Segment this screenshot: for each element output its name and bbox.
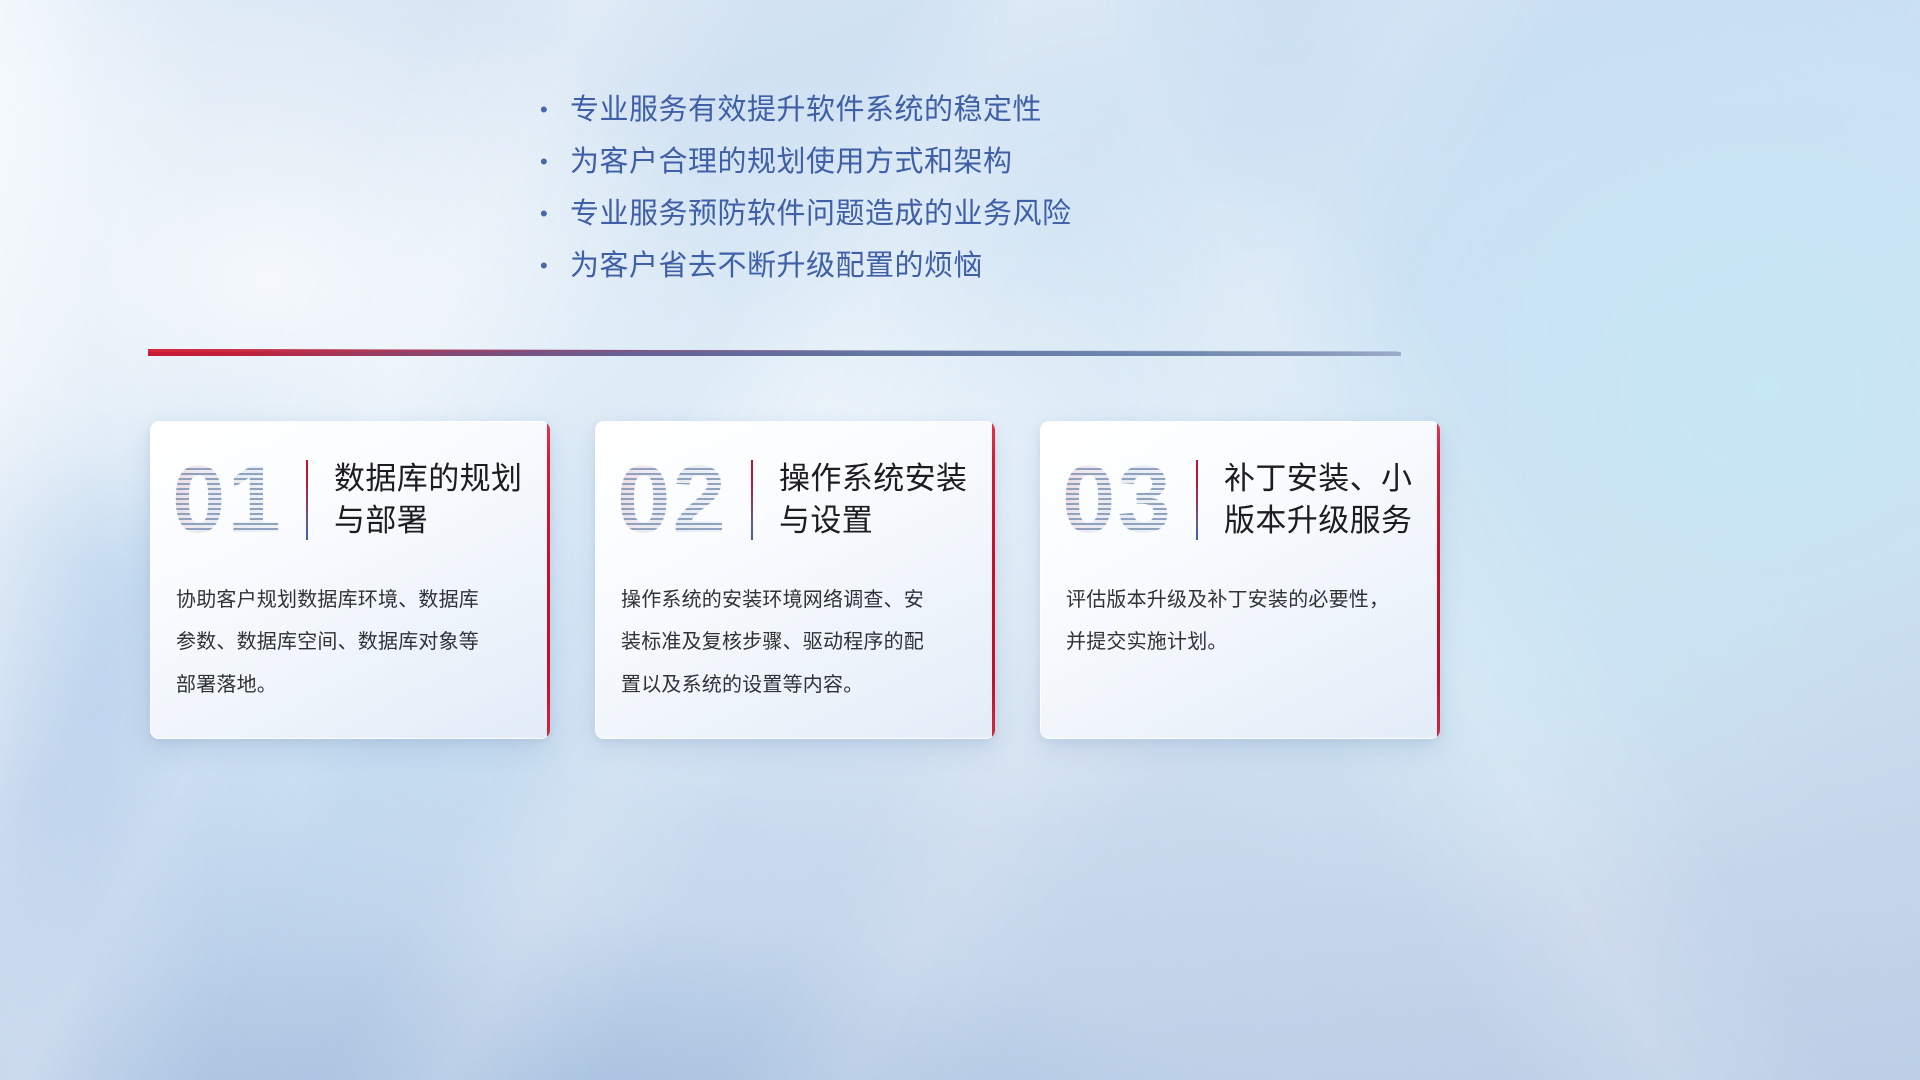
card-title: 数据库的规划 与部署: [334, 458, 522, 542]
service-card-list: 01 01 数据库的规划 与部署 协助客户规划数据库环境、数据库 参数、数据库空…: [150, 421, 1570, 741]
bullet-text: 为客户省去不断升级配置的烦恼: [570, 242, 983, 284]
section-divider: [148, 349, 1401, 359]
service-card[interactable]: 01 01 数据库的规划 与部署 协助客户规划数据库环境、数据库 参数、数据库空…: [150, 421, 550, 739]
service-card[interactable]: 03 03 补丁安装、小 版本升级服务 评估版本升级及补丁安装的必要性， 并提交…: [1040, 421, 1440, 739]
bullet-marker-icon: •: [540, 99, 570, 121]
card-number: 03: [1062, 448, 1192, 552]
divider-bar-highlight: [148, 349, 1401, 352]
card-number: 01: [172, 448, 302, 552]
slide-canvas: • 专业服务有效提升软件系统的稳定性 • 为客户合理的规划使用方式和架构 • 专…: [0, 0, 1920, 1080]
card-body-text: 操作系统的安装环境网络调查、安 装标准及复核步骤、驱动程序的配 置以及系统的设置…: [595, 579, 995, 706]
bullet-item-4: • 为客户省去不断升级配置的烦恼: [540, 242, 1520, 294]
bullet-marker-icon: •: [540, 255, 570, 277]
card-title-rule: [751, 460, 753, 540]
bullet-text: 为客户合理的规划使用方式和架构: [570, 138, 1013, 180]
service-card[interactable]: 02 02 操作系统安装 与设置 操作系统的安装环境网络调查、安 装标准及复核步…: [595, 421, 995, 739]
card-title: 操作系统安装 与设置: [779, 458, 967, 542]
card-title-rule: [1196, 460, 1198, 540]
card-number: 02: [617, 448, 747, 552]
card-header: 02 操作系统安装 与设置: [595, 421, 995, 579]
card-header: 01 数据库的规划 与部署: [150, 421, 550, 579]
card-title-rule: [306, 460, 308, 540]
bullet-item-3: • 专业服务预防软件问题造成的业务风险: [540, 190, 1520, 242]
bullet-text: 专业服务有效提升软件系统的稳定性: [570, 86, 1042, 128]
card-body-text: 评估版本升级及补丁安装的必要性， 并提交实施计划。: [1040, 579, 1440, 664]
bullet-item-1: • 专业服务有效提升软件系统的稳定性: [540, 86, 1520, 138]
card-title: 补丁安装、小 版本升级服务: [1224, 458, 1412, 542]
bullet-marker-icon: •: [540, 151, 570, 173]
card-body-text: 协助客户规划数据库环境、数据库 参数、数据库空间、数据库对象等 部署落地。: [150, 579, 550, 706]
bullet-item-2: • 为客户合理的规划使用方式和架构: [540, 138, 1520, 190]
benefits-bullet-list: • 专业服务有效提升软件系统的稳定性 • 为客户合理的规划使用方式和架构 • 专…: [540, 86, 1520, 294]
bullet-text: 专业服务预防软件问题造成的业务风险: [570, 190, 1072, 232]
bullet-marker-icon: •: [540, 203, 570, 225]
card-header: 03 补丁安装、小 版本升级服务: [1040, 421, 1440, 579]
